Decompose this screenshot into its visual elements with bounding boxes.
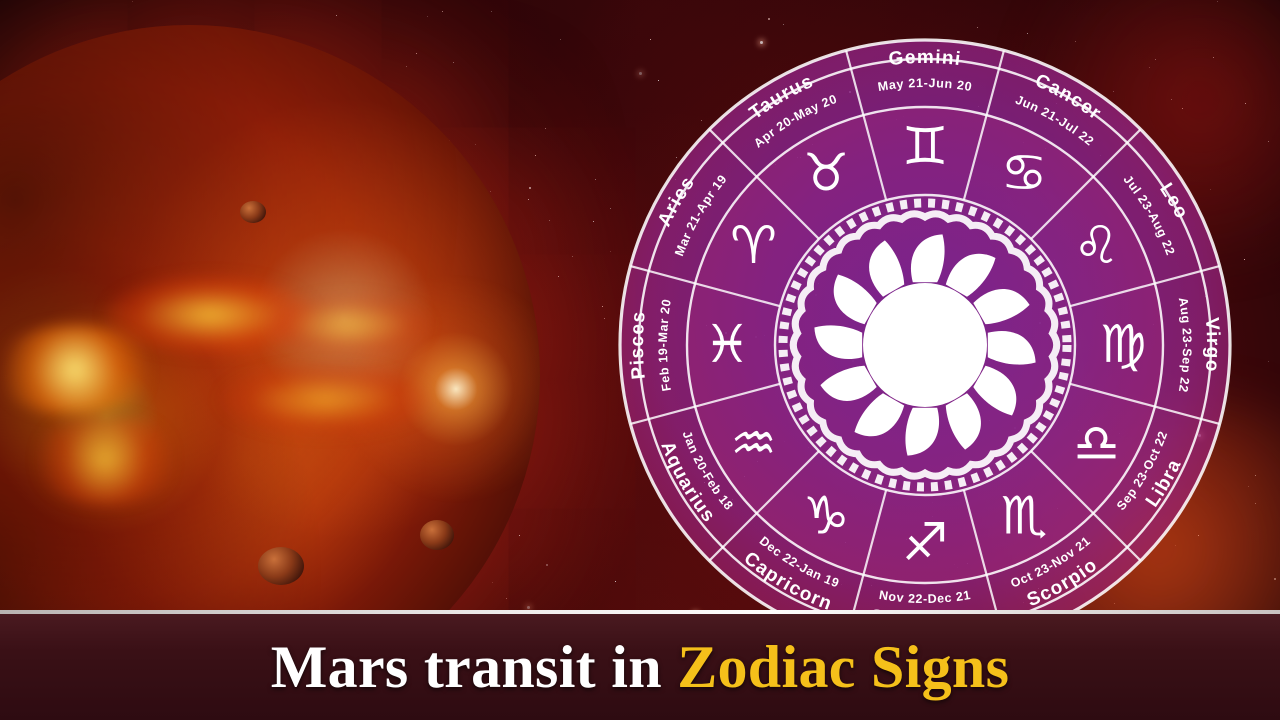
zodiac-wheel[interactable]: ♈AriesMar 21-Apr 19♉TaurusApr 20-May 20♊… (615, 35, 1235, 655)
zodiac-glyph-aries: ♈ (730, 216, 777, 276)
zodiac-glyph-leo: ♌ (1073, 216, 1120, 276)
zodiac-glyph-libra: ♎ (1073, 414, 1120, 474)
page-title: Mars transit in Zodiac Signs (271, 637, 1010, 697)
zodiac-glyph-aquarius: ♒ (730, 414, 777, 474)
zodiac-glyph-capricorn: ♑ (803, 486, 850, 546)
title-gold-text: Zodiac Signs (677, 634, 1009, 700)
zodiac-name-pisces: Pisces (627, 310, 650, 380)
mars-planet (0, 25, 580, 665)
zodiac-glyph-pisces: ♓ (704, 315, 751, 375)
zodiac-name-virgo: Virgo (1201, 317, 1223, 374)
zodiac-name-gemini: Gemini (888, 47, 963, 70)
zodiac-glyph-scorpio: ♏ (1001, 486, 1048, 546)
moonlet-right (420, 520, 454, 550)
moonlet-upper (240, 201, 266, 223)
zodiac-glyph-taurus: ♉ (803, 144, 850, 204)
zodiac-glyph-sagittarius: ♐ (902, 513, 949, 573)
zodiac-glyph-gemini: ♊ (902, 117, 949, 177)
title-bar-top-rule (0, 610, 1280, 614)
moonlet-lower (258, 547, 304, 585)
image-canvas: ♈AriesMar 21-Apr 19♉TaurusApr 20-May 20♊… (0, 0, 1280, 720)
title-white-text: Mars transit in (271, 634, 677, 700)
zodiac-glyph-virgo: ♍ (1100, 315, 1147, 375)
title-bar: Mars transit in Zodiac Signs (0, 610, 1280, 720)
zodiac-glyph-cancer: ♋ (1001, 144, 1048, 204)
